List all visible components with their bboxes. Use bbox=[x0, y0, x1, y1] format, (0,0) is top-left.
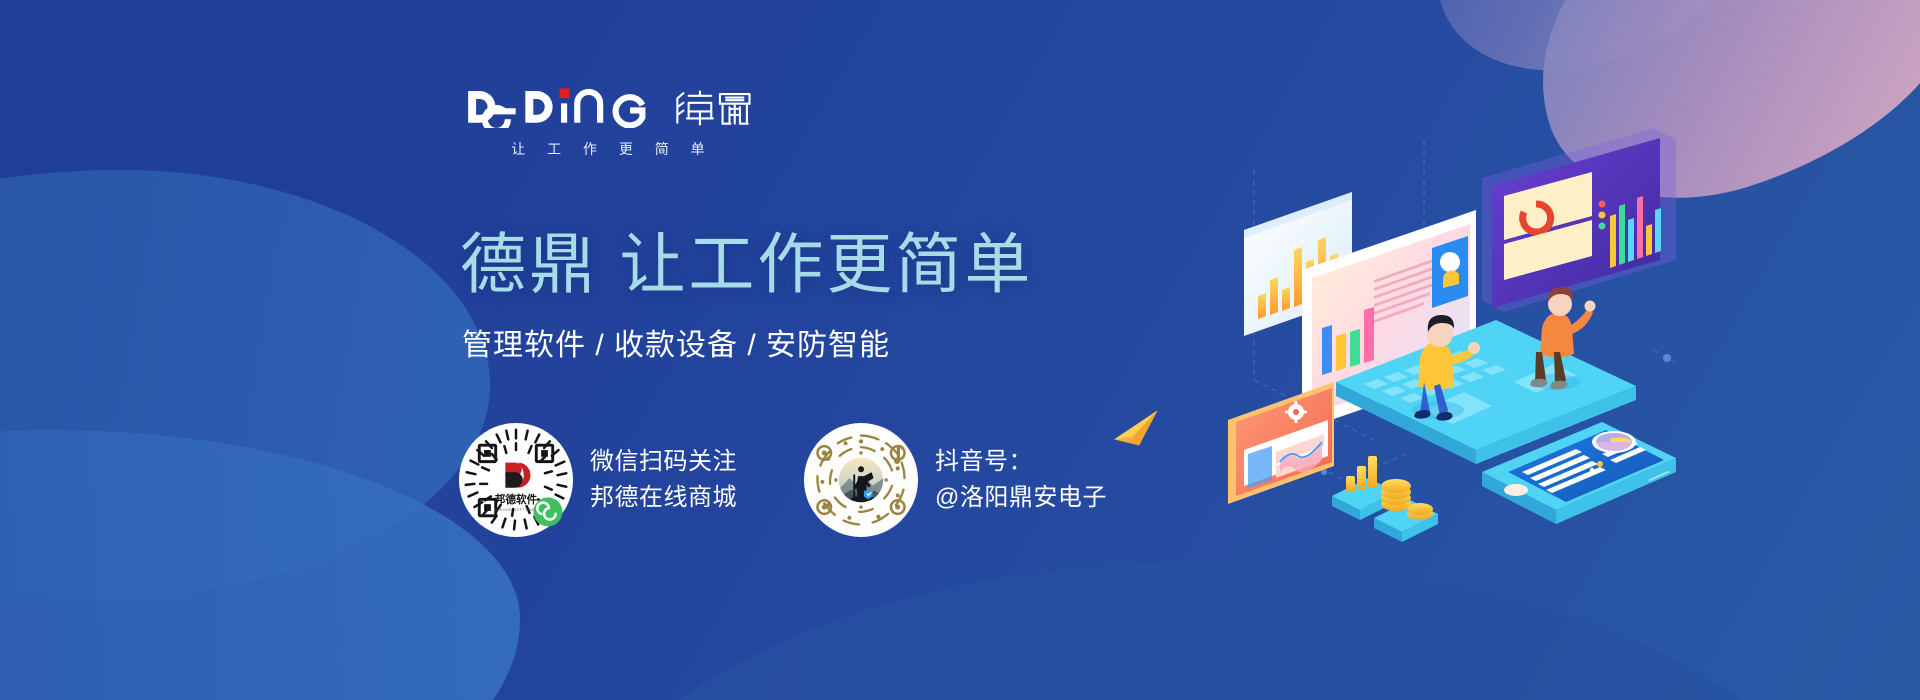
background-shape-dark-circle bbox=[0, 0, 380, 220]
svg-text:BANGDE SOFTWARE: BANGDE SOFTWARE bbox=[494, 508, 538, 512]
logo-dot bbox=[560, 88, 570, 98]
brand-logo[interactable]: 让 工 作 更 简 单 bbox=[462, 84, 757, 159]
qr-code-row: 邦德软件 BANGDE SOFTWARE 微信扫码关注 邦德在线商城 bbox=[458, 422, 1107, 538]
qr-caption-douyin: 抖音号： @洛阳鼎安电子 bbox=[935, 444, 1107, 516]
qr-item-wechat[interactable]: 邦德软件 BANGDE SOFTWARE 微信扫码关注 邦德在线商城 bbox=[458, 422, 737, 538]
purple-analytics-screen bbox=[1482, 128, 1676, 312]
qr-caption-line2: @洛阳鼎安电子 bbox=[935, 480, 1107, 516]
page-subtitle: 管理软件 / 收款设备 / 安防智能 bbox=[462, 320, 890, 364]
douyin-qr-icon[interactable] bbox=[803, 422, 919, 538]
logo-tagline: 让 工 作 更 简 单 bbox=[462, 139, 757, 159]
qr-caption-line1: 微信扫码关注 bbox=[590, 448, 737, 475]
paper-plane-icon bbox=[1108, 398, 1170, 460]
wordmark-cn-icon bbox=[673, 88, 756, 128]
background-wave-lower bbox=[0, 430, 520, 700]
page-title: 德鼎 让工作更简单 bbox=[460, 228, 1033, 302]
isometric-illustration bbox=[1224, 120, 1684, 560]
qr-item-douyin[interactable]: 抖音号： @洛阳鼎安电子 bbox=[803, 422, 1107, 538]
svg-text:邦德软件: 邦德软件 bbox=[495, 493, 538, 506]
wordmark-latin-icon bbox=[462, 84, 664, 128]
qr-caption-line2: 邦德在线商城 bbox=[590, 480, 737, 516]
background-wave-bottom bbox=[560, 560, 1860, 700]
red-report-card bbox=[1228, 382, 1334, 504]
qr-caption-wechat: 微信扫码关注 邦德在线商城 bbox=[590, 444, 737, 516]
background-blob-secondary bbox=[1397, 0, 1793, 119]
coin-stacks bbox=[1332, 456, 1438, 542]
wechat-miniprogram-qr-icon[interactable]: 邦德软件 BANGDE SOFTWARE bbox=[458, 422, 574, 538]
logo-mark bbox=[462, 84, 757, 128]
qr-caption-line1: 抖音号： bbox=[935, 448, 1033, 475]
background-wave-upper bbox=[0, 170, 490, 600]
promo-banner: 让 工 作 更 简 单 德鼎 让工作更简单 管理软件 / 收款设备 / 安防智能 bbox=[0, 0, 1920, 700]
